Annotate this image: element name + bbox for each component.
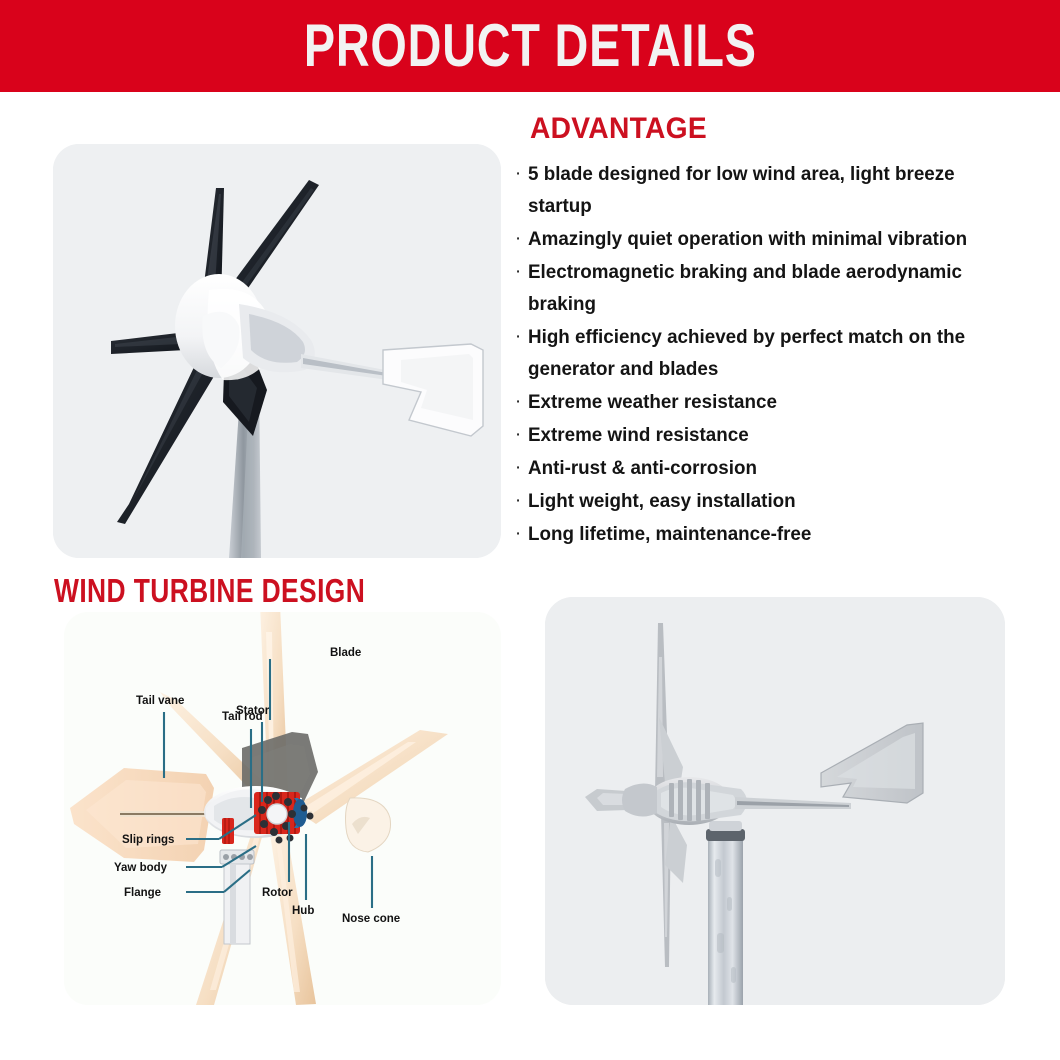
bullet-icon: · <box>508 485 528 517</box>
header-banner: PRODUCT DETAILS <box>0 0 1060 92</box>
diagram-label-flange: Flange <box>124 887 161 899</box>
diagram-label-stator: Stator <box>236 705 270 717</box>
diagram-label-yaw-body: Yaw body <box>114 862 168 874</box>
bullet-icon: · <box>508 158 528 190</box>
bullet-icon: · <box>508 419 528 451</box>
advantage-item-text: High efficiency achieved by perfect matc… <box>528 321 972 385</box>
turbine-pole-photo-illustration <box>545 597 1005 1005</box>
list-item: · Amazingly quiet operation with minimal… <box>508 223 1048 255</box>
turbine-photo-illustration <box>53 144 501 558</box>
diagram-label-blade: Blade <box>330 647 361 659</box>
bullet-icon: · <box>508 518 528 550</box>
diagram-label-slip-rings: Slip rings <box>122 834 174 846</box>
advantage-item-text: Anti-rust & anti-corrosion <box>528 452 757 484</box>
diagram-label-tail-vane: Tail vane <box>136 695 184 707</box>
advantage-item-text: Electromagnetic braking and blade aerody… <box>528 256 972 320</box>
advantage-item-text: Extreme weather resistance <box>528 386 777 418</box>
advantage-item-text: Long lifetime, maintenance-free <box>528 518 811 550</box>
product-photo-bottom-right <box>545 597 1005 1005</box>
product-photo-top-left <box>53 144 501 558</box>
bullet-icon: · <box>508 386 528 418</box>
list-item: · High efficiency achieved by perfect ma… <box>508 321 1048 385</box>
design-section-heading: WIND TURBINE DESIGN <box>54 572 365 610</box>
diagram-label-rotor: Rotor <box>262 887 293 899</box>
list-item: · Light weight, easy installation <box>508 485 1048 517</box>
turbine-cutaway-diagram: Tail vane Tail rod Slip rings Yaw body F… <box>64 612 501 1005</box>
advantage-list: · 5 blade designed for low wind area, li… <box>508 158 1048 550</box>
list-item: · Extreme weather resistance <box>508 386 1048 418</box>
advantage-item-text: 5 blade designed for low wind area, ligh… <box>528 158 972 222</box>
diagram-label-nose-cone: Nose cone <box>342 913 400 925</box>
advantage-section: ADVANTAGE · 5 blade designed for low win… <box>508 112 1048 551</box>
bullet-icon: · <box>508 223 528 255</box>
list-item: · Long lifetime, maintenance-free <box>508 518 1048 550</box>
bullet-icon: · <box>508 452 528 484</box>
bullet-icon: · <box>508 321 528 353</box>
advantage-item-text: Amazingly quiet operation with minimal v… <box>528 223 967 255</box>
advantage-heading: ADVANTAGE <box>530 112 1017 146</box>
advantage-item-text: Extreme wind resistance <box>528 419 749 451</box>
list-item: · Electromagnetic braking and blade aero… <box>508 256 1048 320</box>
page-title: PRODUCT DETAILS <box>304 16 757 76</box>
list-item: · Extreme wind resistance <box>508 419 1048 451</box>
bullet-icon: · <box>508 256 528 288</box>
list-item: · 5 blade designed for low wind area, li… <box>508 158 1048 222</box>
turbine-design-diagram: Tail vane Tail rod Slip rings Yaw body F… <box>64 612 501 1005</box>
diagram-label-hub: Hub <box>292 905 314 917</box>
advantage-item-text: Light weight, easy installation <box>528 485 796 517</box>
list-item: · Anti-rust & anti-corrosion <box>508 452 1048 484</box>
